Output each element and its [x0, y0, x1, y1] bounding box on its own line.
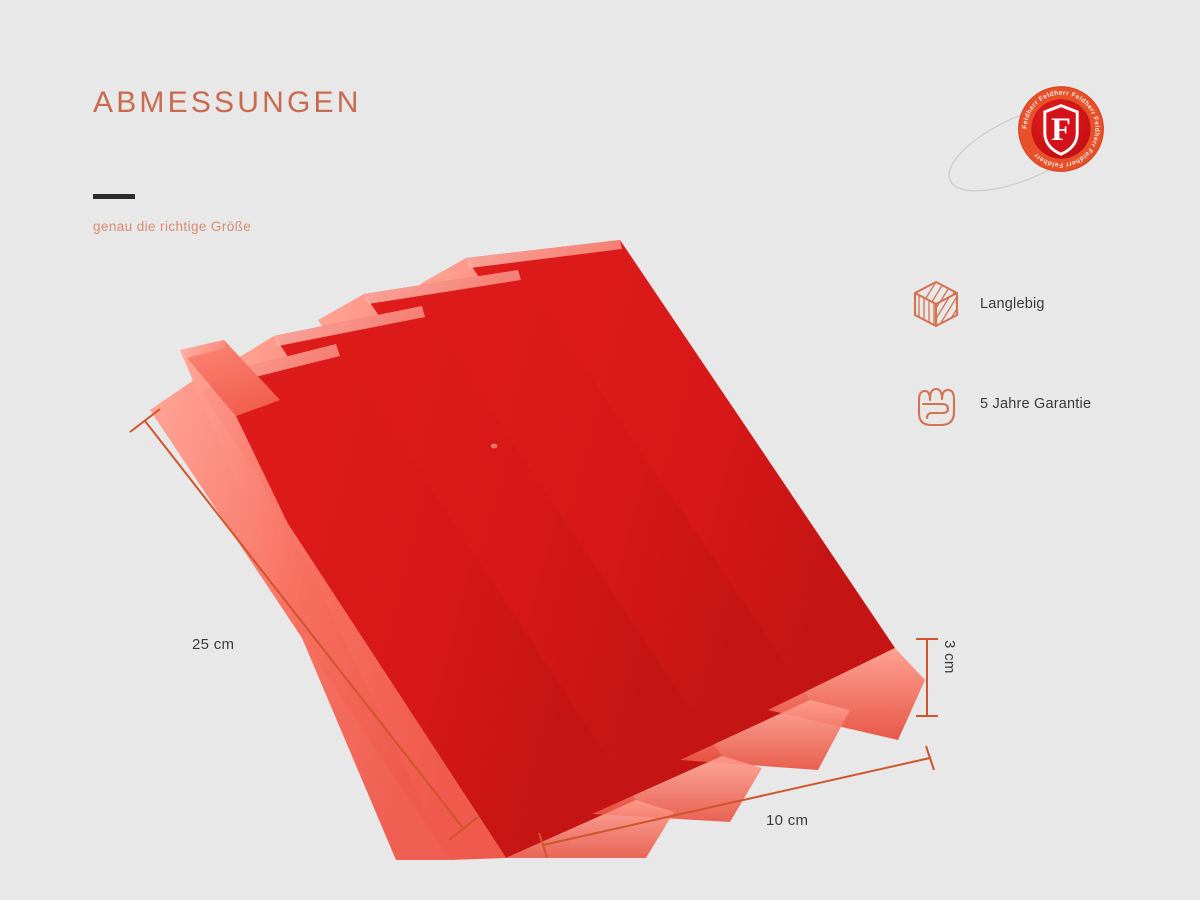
- dimension-label-length: 25 cm: [192, 636, 234, 653]
- feldherr-logo-icon: Feldherr Feldherr Feldherr Feldherr Feld…: [1016, 84, 1106, 174]
- feature-label: 5 Jahre Garantie: [980, 396, 1091, 412]
- feature-label: Langlebig: [980, 296, 1045, 312]
- page-subtitle: genau die richtige Größe: [93, 219, 251, 234]
- brand-logo-area: Feldherr Feldherr Feldherr Feldherr Feld…: [930, 80, 1120, 215]
- infographic-canvas: ABMESSUNGEN genau die richtige Größe Fel…: [0, 0, 1200, 900]
- title-divider: [93, 194, 135, 199]
- svg-text:F: F: [1051, 112, 1071, 148]
- product-image: [150, 240, 940, 860]
- dimension-label-width: 10 cm: [766, 812, 808, 829]
- page-title: ABMESSUNGEN: [93, 86, 362, 120]
- dimension-label-height: 3 cm: [941, 640, 958, 674]
- surface-pinhole: [491, 444, 498, 449]
